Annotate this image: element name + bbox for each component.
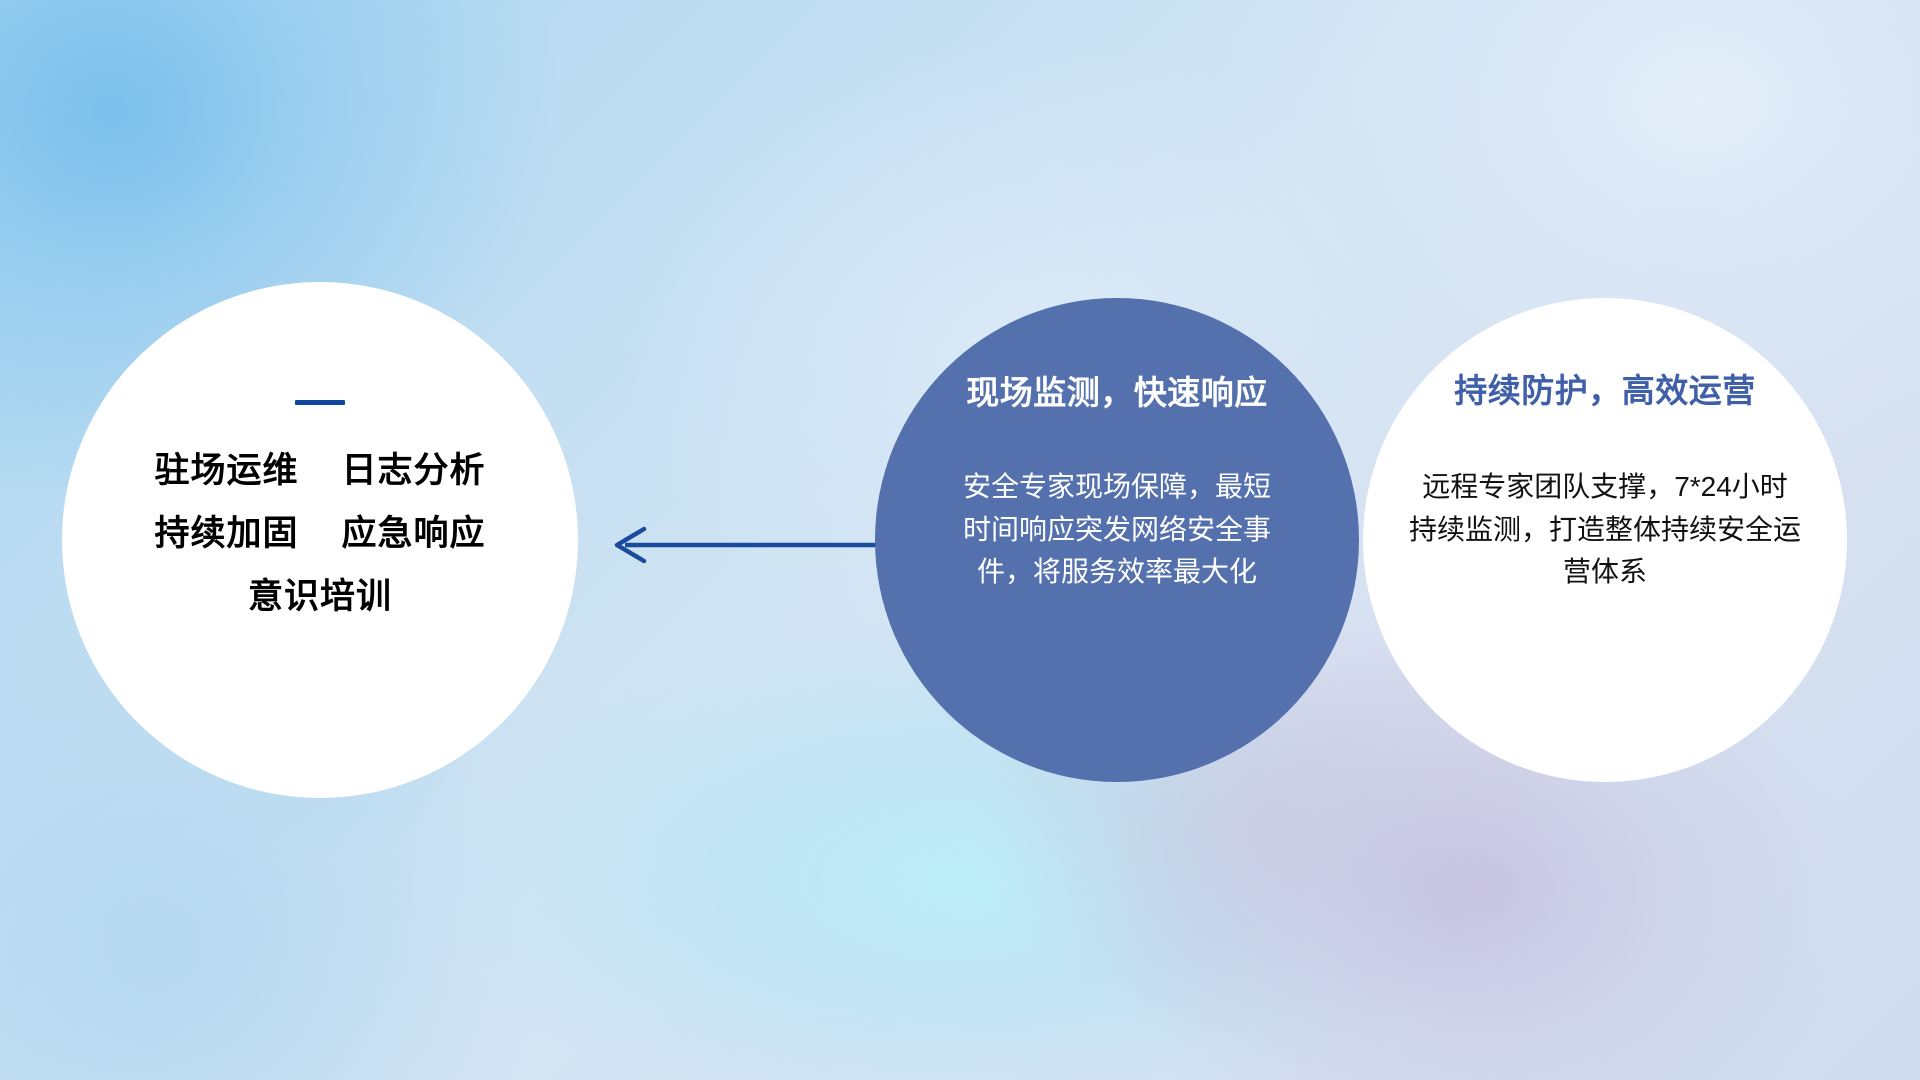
continuous-protection-title: 持续防护，高效运营 xyxy=(1454,364,1756,412)
capability-keyword-list: 驻场运维 日志分析 持续加固 应急响应 意识培训 xyxy=(62,453,578,615)
continuous-protection-body: 远程专家团队支撑，7*24小时持续监测，打造整体持续安全运营体系 xyxy=(1409,466,1801,594)
capability-line-1: 驻场运维 日志分析 xyxy=(62,453,578,490)
left-pointing-arrow-icon xyxy=(600,510,900,580)
onsite-monitoring-body: 安全专家现场保障，最短时间响应突发网络安全事件，将服务效率最大化 xyxy=(958,466,1276,594)
onsite-monitoring-circle[interactable]: 现场监测，快速响应 安全专家现场保障，最短时间响应突发网络安全事件，将服务效率最… xyxy=(875,298,1359,782)
divider-dash xyxy=(295,400,345,405)
capability-line-2: 持续加固 应急响应 xyxy=(62,516,578,553)
onsite-monitoring-title: 现场监测，快速响应 xyxy=(966,366,1268,414)
capability-keywords-circle[interactable]: 驻场运维 日志分析 持续加固 应急响应 意识培训 xyxy=(62,282,578,798)
continuous-protection-circle[interactable]: 持续防护，高效运营 远程专家团队支撑，7*24小时持续监测，打造整体持续安全运营… xyxy=(1363,298,1847,782)
slide-canvas: 驻场运维 日志分析 持续加固 应急响应 意识培训 现场监测，快速响应 安全专家现… xyxy=(0,0,1920,1080)
capability-line-3: 意识培训 xyxy=(62,579,578,616)
